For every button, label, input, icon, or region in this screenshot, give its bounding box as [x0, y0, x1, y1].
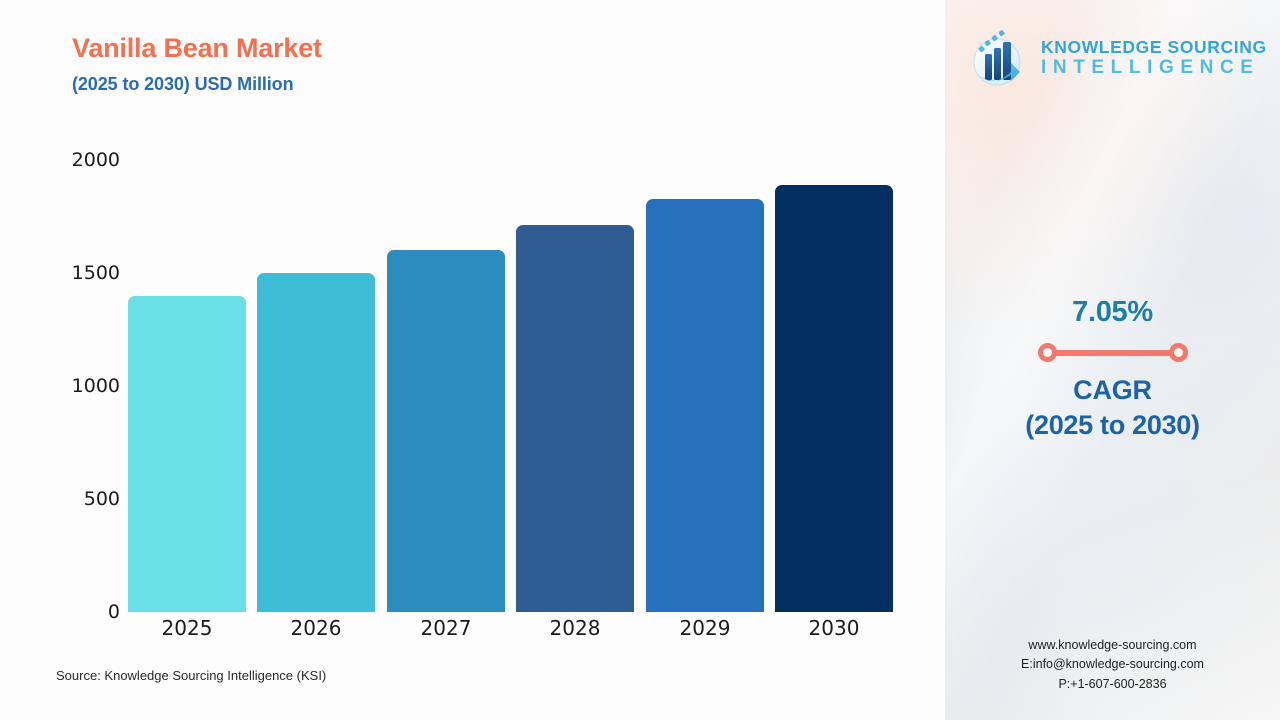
logo-wordmark: KNOWLEDGE SOURCING INTELLIGENCE [1041, 38, 1267, 78]
bar-2028[interactable] [516, 225, 634, 612]
y-axis-tick-label: 1500 [10, 262, 120, 284]
cagr-connector-graphic [1038, 343, 1188, 363]
bar-2027[interactable] [387, 250, 505, 612]
x-axis-tick-label: 2025 [128, 616, 246, 640]
bar-2025[interactable] [128, 296, 246, 612]
y-axis-tick-label: 500 [10, 488, 120, 510]
logo-block[interactable]: KNOWLEDGE SOURCING INTELLIGENCE [967, 26, 1267, 90]
logo-text-line2: INTELLIGENCE [1041, 58, 1267, 78]
cagr-block: 7.05% CAGR (2025 to 2030) [945, 296, 1280, 441]
x-axis-tick-label: 2027 [387, 616, 505, 640]
logo-text-line1: KNOWLEDGE SOURCING [1041, 38, 1267, 56]
bars-group [128, 0, 893, 612]
cagr-value: 7.05% [945, 296, 1280, 329]
contact-website[interactable]: www.knowledge-sourcing.com [945, 636, 1280, 655]
x-axis-tick-label: 2030 [775, 616, 893, 640]
bar-2026[interactable] [257, 273, 375, 612]
infographic-page: Vanilla Bean Market (2025 to 2030) USD M… [0, 0, 1280, 720]
brand-panel: KNOWLEDGE SOURCING INTELLIGENCE 7.05% CA… [945, 0, 1280, 720]
source-note: Source: Knowledge Sourcing Intelligence … [56, 668, 326, 683]
bar-2030[interactable] [775, 185, 893, 612]
chart-panel: Vanilla Bean Market (2025 to 2030) USD M… [0, 0, 945, 720]
bar-2029[interactable] [646, 199, 764, 612]
contact-email[interactable]: E:info@knowledge-sourcing.com [945, 655, 1280, 674]
cagr-dot-end [1169, 343, 1188, 362]
contact-phone: P:+1-607-600-2836 [945, 675, 1280, 694]
contact-block: www.knowledge-sourcing.com E:info@knowle… [945, 636, 1280, 694]
y-axis-tick-label: 2000 [10, 149, 120, 171]
y-axis-tick-label: 0 [10, 601, 120, 623]
bar-chart-plot: 0500100015002000 20252026202720282029203… [0, 0, 945, 720]
x-axis-tick-label: 2026 [257, 616, 375, 640]
knowledge-sourcing-logo-icon [967, 26, 1031, 90]
x-axis-tick-label: 2029 [646, 616, 764, 640]
cagr-period: (2025 to 2030) [945, 410, 1280, 441]
cagr-connector-line [1047, 350, 1179, 356]
cagr-dot-start [1038, 343, 1057, 362]
y-axis-tick-label: 1000 [10, 375, 120, 397]
cagr-label: CAGR [945, 375, 1280, 406]
y-axis: 0500100015002000 [0, 0, 120, 720]
x-axis-tick-label: 2028 [516, 616, 634, 640]
